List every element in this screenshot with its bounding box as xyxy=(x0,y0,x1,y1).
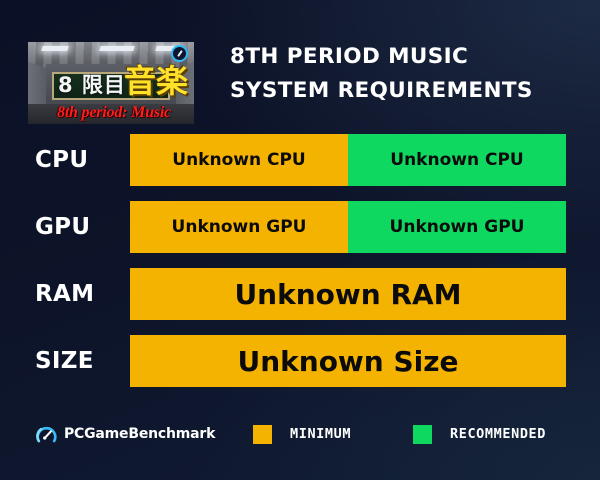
legend-label-minimum: MINIMUM xyxy=(290,426,351,442)
spec-bars-cpu: Unknown CPU Unknown CPU xyxy=(130,134,566,186)
system-requirements-card: 8 限目 音楽 8th period: Music 8TH PERIOD MUS… xyxy=(0,0,600,480)
spec-minimum-size: Unknown Size xyxy=(130,335,566,387)
card-footer: PCGameBenchmark MINIMUM RECOMMENDED xyxy=(0,420,600,452)
legend-item-recommended: RECOMMENDED xyxy=(413,420,546,448)
speedometer-icon xyxy=(36,424,57,445)
legend-swatch-recommended xyxy=(413,425,432,444)
game-thumbnail: 8 限目 音楽 8th period: Music xyxy=(28,42,194,124)
thumbnail-subtitle: 8th period: Music xyxy=(34,104,194,122)
thumbnail-board-text-yellow: 音楽 xyxy=(124,64,188,98)
card-header: 8 限目 音楽 8th period: Music 8TH PERIOD MUS… xyxy=(28,40,572,124)
spec-minimum-gpu: Unknown GPU xyxy=(130,201,348,253)
legend-swatch-minimum xyxy=(253,425,272,444)
spec-minimum-cpu: Unknown CPU xyxy=(130,134,348,186)
spec-minimum-ram: Unknown RAM xyxy=(130,268,566,320)
page-title-line-1: 8TH PERIOD MUSIC xyxy=(230,44,468,69)
spec-recommended-cpu: Unknown CPU xyxy=(348,134,566,186)
brand: PCGameBenchmark xyxy=(36,420,215,448)
brand-name: PCGameBenchmark xyxy=(64,426,215,442)
spec-label-size: SIZE xyxy=(35,335,125,387)
thumbnail-board-text-white: 8 限目 xyxy=(58,72,126,98)
spec-bars-size: Unknown Size xyxy=(130,335,566,387)
spec-label-ram: RAM xyxy=(35,268,125,320)
spec-bars-gpu: Unknown GPU Unknown GPU xyxy=(130,201,566,253)
thumbnail-ceiling-light xyxy=(41,46,68,51)
page-title: 8TH PERIOD MUSIC SYSTEM REQUIREMENTS xyxy=(230,40,574,108)
spec-label-gpu: GPU xyxy=(35,201,125,253)
spec-bars-ram: Unknown RAM xyxy=(130,268,566,320)
legend-label-recommended: RECOMMENDED xyxy=(450,426,546,442)
thumbnail-ceiling-light xyxy=(99,46,134,51)
spec-recommended-gpu: Unknown GPU xyxy=(348,201,566,253)
speedometer-icon xyxy=(171,45,188,62)
spec-label-cpu: CPU xyxy=(35,134,125,186)
page-title-line-2: SYSTEM REQUIREMENTS xyxy=(230,74,574,108)
legend-item-minimum: MINIMUM xyxy=(253,420,351,448)
